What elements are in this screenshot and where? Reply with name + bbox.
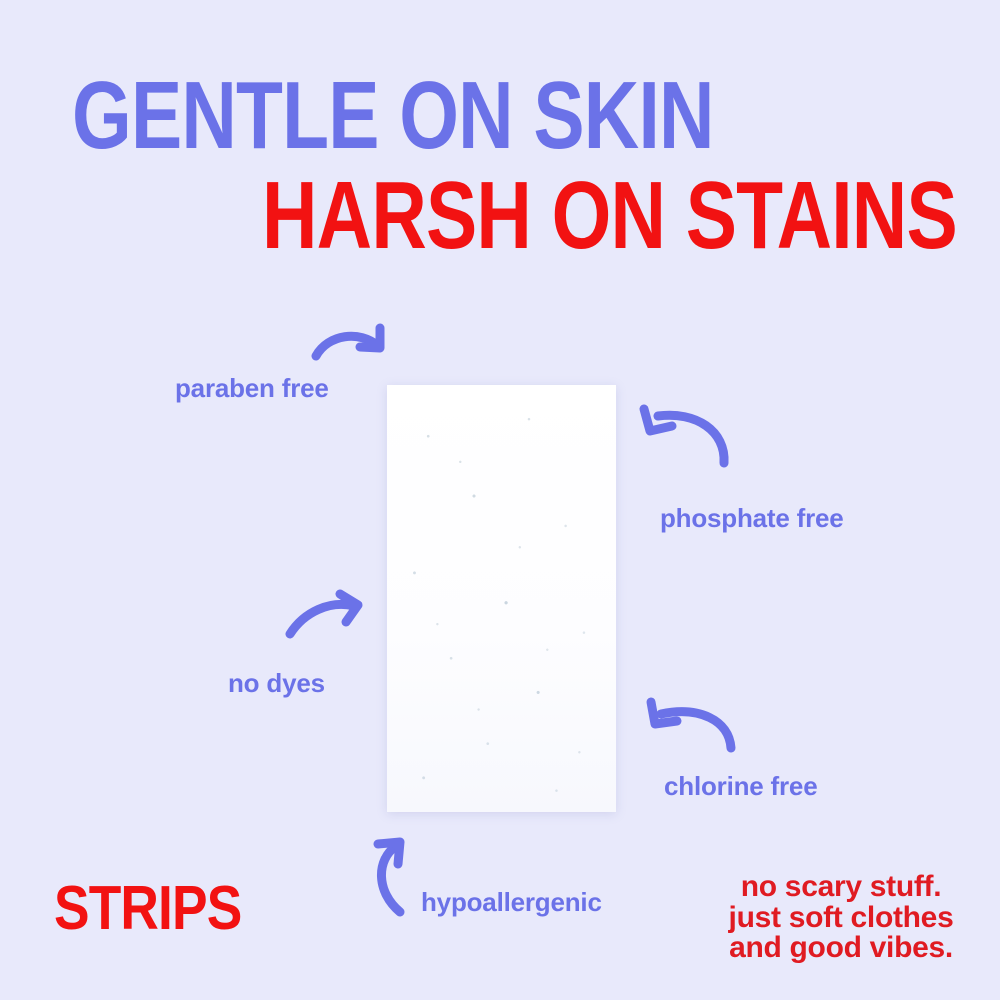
callout-label-chlorine-free: chlorine free: [664, 773, 817, 799]
headline-gentle-on-skin: GENTLE ON SKIN: [72, 68, 714, 164]
headline-harsh-on-stains: HARSH ON STAINS: [262, 168, 957, 264]
tagline-line-1: no scary stuff.: [700, 872, 982, 903]
callout-label-phosphate-free: phosphate free: [660, 505, 844, 531]
curved-arrow-icon-paraben-free: [312, 326, 392, 374]
curved-arrow-icon-no-dyes: [286, 592, 366, 640]
curved-arrow-icon-chlorine-free: [645, 700, 737, 752]
product-sheet-image: [387, 385, 616, 812]
tagline-block: no scary stuff. just soft clothes and go…: [700, 872, 982, 964]
curved-arrow-icon-hypoallergenic: [366, 838, 418, 916]
curved-arrow-icon-phosphate-free: [640, 405, 732, 467]
callout-label-paraben-free: paraben free: [175, 375, 329, 401]
tagline-line-2: just soft clothes: [700, 903, 982, 934]
callout-label-hypoallergenic: hypoallergenic: [421, 889, 602, 915]
callout-label-no-dyes: no dyes: [228, 670, 325, 696]
brand-wordmark-strips: STRIPS: [54, 878, 241, 940]
tagline-line-3: and good vibes.: [700, 933, 982, 964]
promo-graphic: GENTLE ON SKIN HARSH ON STAINS paraben f…: [0, 0, 1000, 1000]
sheet-texture-overlay: [387, 385, 616, 812]
